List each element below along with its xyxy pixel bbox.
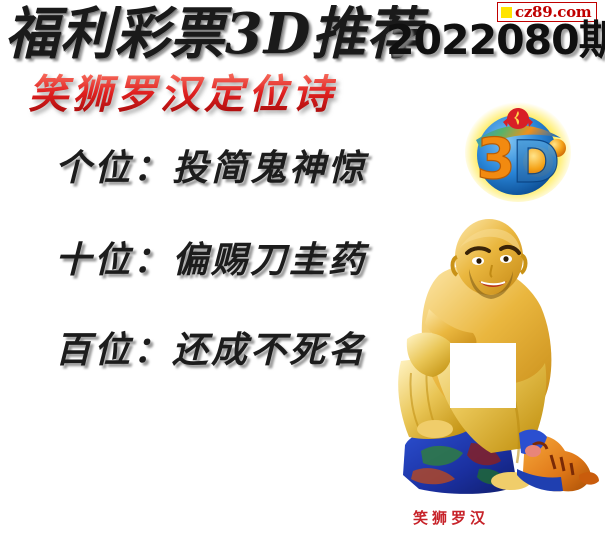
- white-redaction-box: [450, 343, 516, 408]
- poem-line-hundreds: 百位：还成不死名: [55, 328, 367, 372]
- lottery-recommendation-poster: cz89.com 福利彩票3D推荐 2022080期 笑狮罗汉定位诗 个位：投简…: [0, 0, 605, 533]
- poem-line-tens: 十位：偏赐刀圭药: [55, 238, 367, 282]
- page-title: 福利彩票3D推荐: [5, 2, 395, 66]
- issue-number: 2022080期: [386, 18, 605, 62]
- tiger-figure: [517, 430, 599, 492]
- poem-line-units: 个位：投简鬼神惊: [55, 146, 367, 190]
- subtitle: 笑狮罗汉定位诗: [28, 72, 336, 118]
- statue-foot: [417, 420, 453, 438]
- svg-text:3: 3: [477, 127, 516, 192]
- svg-text:D: D: [512, 128, 560, 196]
- statue-caption: 笑狮罗汉: [413, 509, 489, 528]
- lottery-3d-logo-icon: 3 D: [462, 98, 574, 202]
